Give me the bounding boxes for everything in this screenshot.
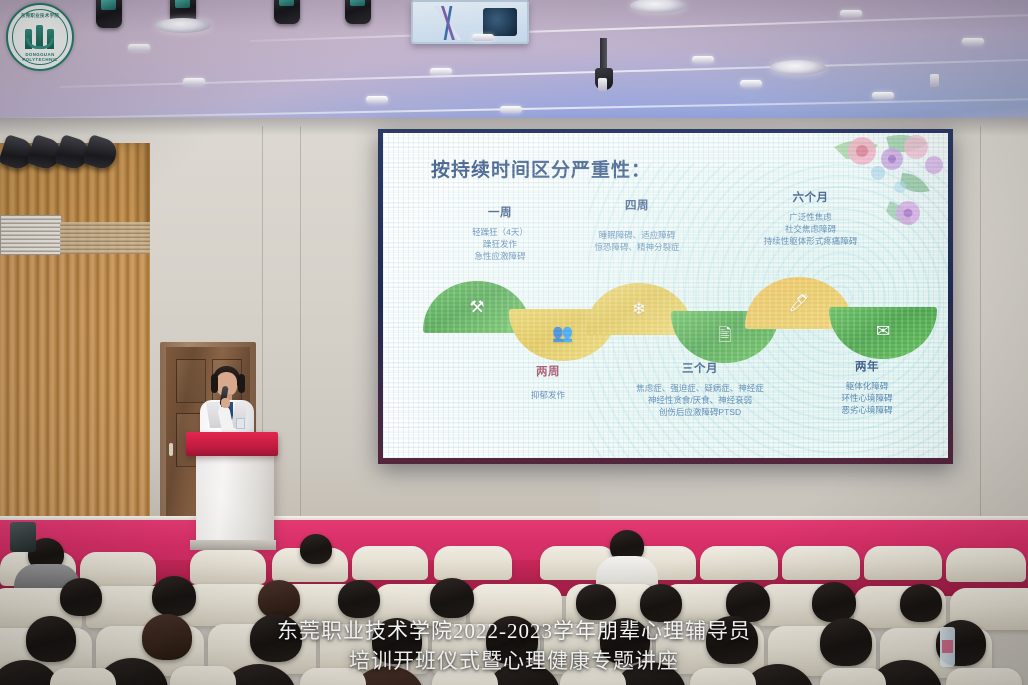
wall-seam: [980, 126, 981, 546]
audience-head: [812, 582, 856, 622]
column-line: 躯体化障碍: [797, 380, 937, 392]
envelope-icon: ✉: [829, 322, 937, 339]
presenter-badge: [236, 418, 245, 429]
column-line: 轻躁狂（4天）: [435, 226, 565, 238]
ceiling-downlight: [183, 78, 205, 85]
ceiling-downlight: [692, 56, 714, 63]
ceiling-downlight: [872, 92, 894, 99]
slide-surface: 按持续时间区分严重性： 一周 轻躁狂（4天） 躁狂发作 急性应激障碍 四周 睡眠…: [383, 133, 948, 458]
wall-seam: [300, 126, 301, 526]
column-heading: 一周: [435, 205, 565, 222]
column-heading: 三个月: [595, 361, 805, 378]
logo-bottom-text: DONGGUAN POLYTECHNIC: [8, 52, 72, 62]
seat: [946, 548, 1026, 582]
column-line: 抑郁发作: [493, 389, 603, 401]
caption-line-1: 东莞职业技术学院2022-2023学年朋辈心理辅导员: [0, 617, 1028, 647]
seat: [190, 550, 266, 584]
petal-segment-envelope: ✉: [829, 307, 937, 359]
wood-slat-wall-panel-lower: [0, 245, 150, 543]
stage-light-truss: [0, 138, 140, 170]
slide-column-six-months: 六个月 广泛性焦虑 社交焦虑障碍 持续性躯体形式疼痛障碍: [703, 190, 918, 248]
wall-vent-grille: [0, 215, 62, 255]
column-line: 睡眠障碍、适应障碍: [547, 229, 727, 241]
seat: [352, 546, 428, 580]
petal-diagram: ⚒ 👥 ❄ 🖹: [423, 281, 923, 363]
column-heading: 两周: [493, 364, 603, 381]
slide-column-four-weeks: 四周 睡眠障碍、适应障碍 惊恐障碍、精神分裂症: [547, 198, 727, 253]
projector-lens: [483, 8, 517, 36]
projection-screen: 按持续时间区分严重性： 一周 轻躁狂（4天） 躁狂发作 急性应激障碍 四周 睡眠…: [378, 129, 953, 464]
column-line: 持续性躯体形式疼痛障碍: [703, 235, 918, 247]
audience-head: [60, 578, 102, 616]
door-handle[interactable]: [169, 443, 173, 456]
slide-title: 按持续时间区分严重性：: [431, 155, 651, 182]
column-heading: 两年: [797, 359, 937, 376]
recessed-ceiling-light: [155, 18, 211, 33]
column-line: 恶劣心境障碍: [797, 404, 937, 416]
column-line: 创伤后应激障碍PTSD: [595, 406, 805, 418]
audience-head: [576, 584, 616, 620]
ceiling-speaker-mount: [600, 38, 607, 70]
ceiling-sensor: [598, 78, 607, 91]
column-line: 惊恐障碍、精神分裂症: [547, 241, 727, 253]
audience-head: [430, 578, 474, 618]
column-heading: 四周: [547, 198, 727, 215]
university-logo-watermark: 东莞职业技术学院 DONGGUAN POLYTECHNIC: [6, 3, 74, 71]
ceiling-downlight: [500, 106, 522, 113]
slide-column-three-months: 三个月 焦虑症、强迫症、疑病症、神经症 神经性贪食/厌食、神经衰弱 创伤后应激障…: [595, 361, 805, 419]
column-line: 焦虑症、强迫症、疑病症、神经症: [595, 382, 805, 394]
column-line: 神经性贪食/厌食、神经衰弱: [595, 394, 805, 406]
audience-head: [338, 580, 380, 618]
column-line: 躁狂发作: [435, 238, 565, 250]
photo-caption: 东莞职业技术学院2022-2023学年朋辈心理辅导员 培训开班仪式暨心理健康专题…: [0, 617, 1028, 677]
presenter-hair-side: [238, 374, 245, 393]
stage-spotlight: [82, 134, 120, 172]
ceiling-projector: [411, 0, 529, 44]
caption-line-2: 培训开班仪式暨心理健康专题讲座: [0, 647, 1028, 677]
audience-head: [152, 576, 196, 616]
ceiling-downlight: [472, 34, 494, 41]
column-line: 急性应激障碍: [435, 250, 565, 262]
lecture-hall-photo: 按持续时间区分严重性： 一周 轻躁狂（4天） 躁狂发作 急性应激障碍 四周 睡眠…: [0, 0, 1028, 685]
slide-column-two-years: 两年 躯体化障碍 环性心境障碍 恶劣心境障碍: [797, 359, 937, 417]
camera-on-tripod: [10, 522, 36, 552]
audience-shoulders: [596, 556, 658, 586]
slide-column-two-weeks: 两周 抑郁发作: [493, 364, 603, 401]
ceiling-downlight: [366, 96, 388, 103]
logo-emblem-icon: [23, 25, 57, 49]
projector-cables: [419, 6, 479, 40]
audience-head: [900, 584, 942, 622]
column-heading: 六个月: [703, 190, 918, 207]
seat: [700, 546, 778, 580]
column-line: 社交焦虑障碍: [703, 223, 918, 235]
hanging-stage-light: [96, 0, 122, 28]
ceiling-downlight: [962, 38, 984, 45]
ceiling-sensor: [930, 74, 939, 87]
seat: [434, 546, 512, 580]
ceiling: [0, 0, 1028, 132]
slide-column-one-week: 一周 轻躁狂（4天） 躁狂发作 急性应激障碍: [435, 205, 565, 263]
ceiling-downlight: [840, 10, 862, 17]
hanging-stage-light: [345, 0, 371, 24]
ceiling-downlight: [740, 80, 762, 87]
ceiling-downlight: [128, 44, 150, 51]
hanging-stage-light: [274, 0, 300, 24]
presenter-hand: [221, 398, 230, 408]
audience-head: [300, 534, 332, 564]
podium-top-panel: [186, 432, 278, 456]
column-line: 广泛性焦虑: [703, 211, 918, 223]
wall-vent-grille: [60, 222, 150, 254]
audience-head: [640, 584, 682, 622]
recessed-ceiling-light: [770, 60, 826, 75]
audience-head: [258, 580, 300, 618]
presenter-hair-side: [211, 374, 218, 393]
logo-top-text: 东莞职业技术学院: [8, 13, 72, 19]
ceiling-downlight: [430, 68, 452, 75]
seat: [782, 546, 860, 580]
column-line: 环性心境障碍: [797, 392, 937, 404]
seat: [864, 546, 942, 580]
